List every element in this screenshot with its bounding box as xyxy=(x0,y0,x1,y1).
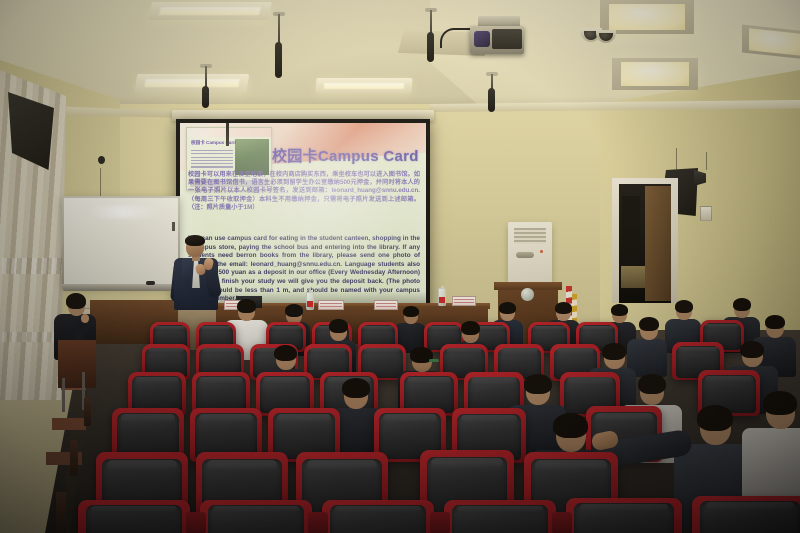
projector-lens xyxy=(474,31,490,47)
whiteboard xyxy=(64,198,178,284)
screen-pull-rod xyxy=(226,123,229,146)
ceiling-light-fixture xyxy=(315,78,412,93)
hanging-microphone xyxy=(488,88,495,112)
audience-hair xyxy=(675,300,693,313)
seat-leg xyxy=(70,440,78,476)
air-conditioner-led xyxy=(540,250,543,253)
audience-hair xyxy=(524,374,552,394)
speaker-wire xyxy=(706,152,707,170)
audience-hair xyxy=(499,302,516,314)
lecture-hall-photo: 陕西师范大学 校园卡 Campus Card 校园卡Campus Card 校园… xyxy=(0,0,800,533)
inset-photo xyxy=(235,139,269,175)
audience-hair xyxy=(639,317,659,331)
speaker-wire xyxy=(676,148,677,170)
inset-text-lines xyxy=(191,150,233,170)
inset-title: 校园卡 Campus Card xyxy=(191,140,236,146)
eyeglasses-icon xyxy=(429,359,439,362)
ceiling-light-fixture xyxy=(135,74,250,92)
air-conditioner-vent xyxy=(514,228,546,244)
ceiling-light-fixture xyxy=(612,58,698,90)
aisle-step-1 xyxy=(52,418,86,430)
ceiling-light-fixture xyxy=(148,2,272,20)
curtain-band-lower xyxy=(2,332,60,342)
projector-rear-body xyxy=(492,29,522,49)
audience-hair xyxy=(765,315,785,329)
microphone-rod xyxy=(278,14,280,44)
inset-banner xyxy=(187,128,271,137)
seat-armrest xyxy=(430,512,450,533)
audience-hair xyxy=(274,345,297,361)
auditorium-seat[interactable] xyxy=(444,500,556,533)
audience-hair xyxy=(555,302,572,314)
audience-hair xyxy=(553,413,588,438)
audience-hair xyxy=(611,304,628,316)
audience-hair xyxy=(461,321,480,335)
curtain-band-upper xyxy=(2,258,62,274)
auditorium-seat[interactable] xyxy=(78,500,190,533)
doorway-lit-wall xyxy=(621,266,645,288)
ceiling-light-fixture xyxy=(600,0,694,34)
microphone-rod xyxy=(205,66,207,88)
seat-leg xyxy=(84,398,91,426)
name-placard xyxy=(452,296,476,306)
name-placard xyxy=(318,300,344,310)
microphone-rod xyxy=(430,10,432,34)
audience-hair xyxy=(740,341,764,358)
hanging-microphone xyxy=(202,86,209,108)
hanging-microphone xyxy=(427,32,434,62)
chair-leg-left xyxy=(62,378,65,412)
auditorium-seat[interactable] xyxy=(200,500,312,533)
doorway-interior xyxy=(622,196,640,266)
lectern-crest xyxy=(521,288,534,301)
light-switch[interactable] xyxy=(700,206,712,221)
wall-sensor xyxy=(98,156,105,164)
audience-hair xyxy=(342,378,370,398)
audience-hair xyxy=(285,304,303,317)
audience-hair xyxy=(602,343,626,360)
auditorium-seat[interactable] xyxy=(692,496,800,533)
audience-hair xyxy=(697,405,733,431)
water-bottle xyxy=(306,292,314,310)
audience-hair xyxy=(403,306,419,317)
auditorium-seat[interactable] xyxy=(566,498,682,533)
whiteboard-marker-tray xyxy=(60,284,184,291)
audience-hair xyxy=(237,299,256,313)
slide-title: 校园卡Campus Card xyxy=(272,145,419,166)
audience-hair xyxy=(66,293,86,309)
seat-armrest xyxy=(186,512,206,533)
audience-hair xyxy=(638,374,666,394)
seat-armrest xyxy=(552,512,572,533)
name-placard xyxy=(374,300,398,310)
slide-body-chinese: 校园卡可以用来在食堂吃饭，在校内商店购买东西，乘坐校车也可以进入图书馆。如果需要… xyxy=(188,171,420,212)
audience-hair xyxy=(733,298,751,311)
auditorium-seat[interactable] xyxy=(322,500,434,533)
presenter-hair xyxy=(185,235,205,246)
hanging-microphone xyxy=(275,42,282,78)
audience-hair xyxy=(763,391,797,415)
seat-armrest xyxy=(308,512,328,533)
door-panel[interactable] xyxy=(645,186,671,301)
seat-leg xyxy=(56,492,66,533)
whiteboard-clip xyxy=(172,222,175,231)
whiteboard-marker xyxy=(146,281,155,285)
water-bottle xyxy=(438,288,446,306)
air-conditioner-panel[interactable] xyxy=(516,252,534,258)
audience-hair xyxy=(329,319,348,333)
